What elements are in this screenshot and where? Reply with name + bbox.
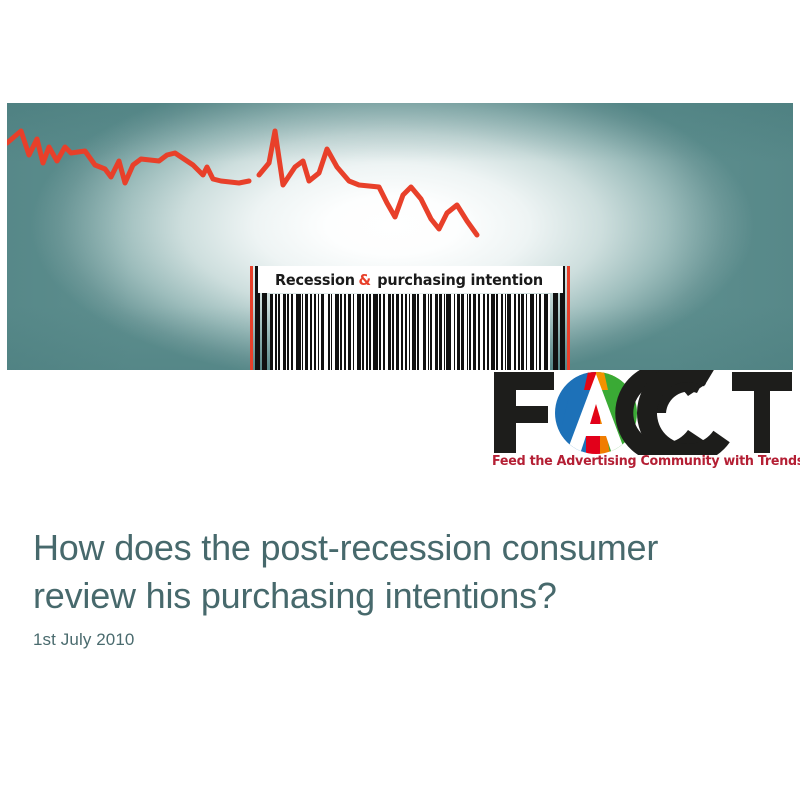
page-title-line-1: How does the post-recession consumer — [33, 524, 763, 572]
fact-logo-tagline: Feed the Advertising Community with Tren… — [492, 454, 782, 469]
barcode-gap — [548, 294, 550, 370]
fact-logo: Feed the Advertising Community with Tren… — [492, 370, 794, 480]
barcode-bars — [270, 294, 550, 370]
barcode-right-edge-bar — [567, 266, 570, 370]
barcode-caption-suffix: purchasing intention — [377, 271, 543, 289]
page-title: How does the post-recession consumer rev… — [33, 524, 763, 620]
logo-letter-f — [494, 372, 554, 453]
recession-purchasing-intention-banner: Recession & purchasing intention — [7, 103, 793, 370]
fact-wordmark-svg — [492, 370, 794, 455]
barcode-caption: Recession & purchasing intention — [258, 266, 563, 293]
barcode-caption-prefix: Recession — [275, 271, 355, 289]
logo-letter-t — [732, 372, 792, 453]
barcode-left-edge-bar — [250, 266, 253, 370]
barcode-graphic: Recession & purchasing intention — [250, 266, 570, 370]
barcode-caption-ampersand: & — [358, 271, 370, 289]
presentation-date: 1st July 2010 — [33, 630, 134, 650]
fact-wordmark — [492, 370, 794, 455]
page-title-line-2: review his purchasing intentions? — [33, 572, 763, 620]
slide-root: Recession & purchasing intention — [0, 0, 800, 800]
